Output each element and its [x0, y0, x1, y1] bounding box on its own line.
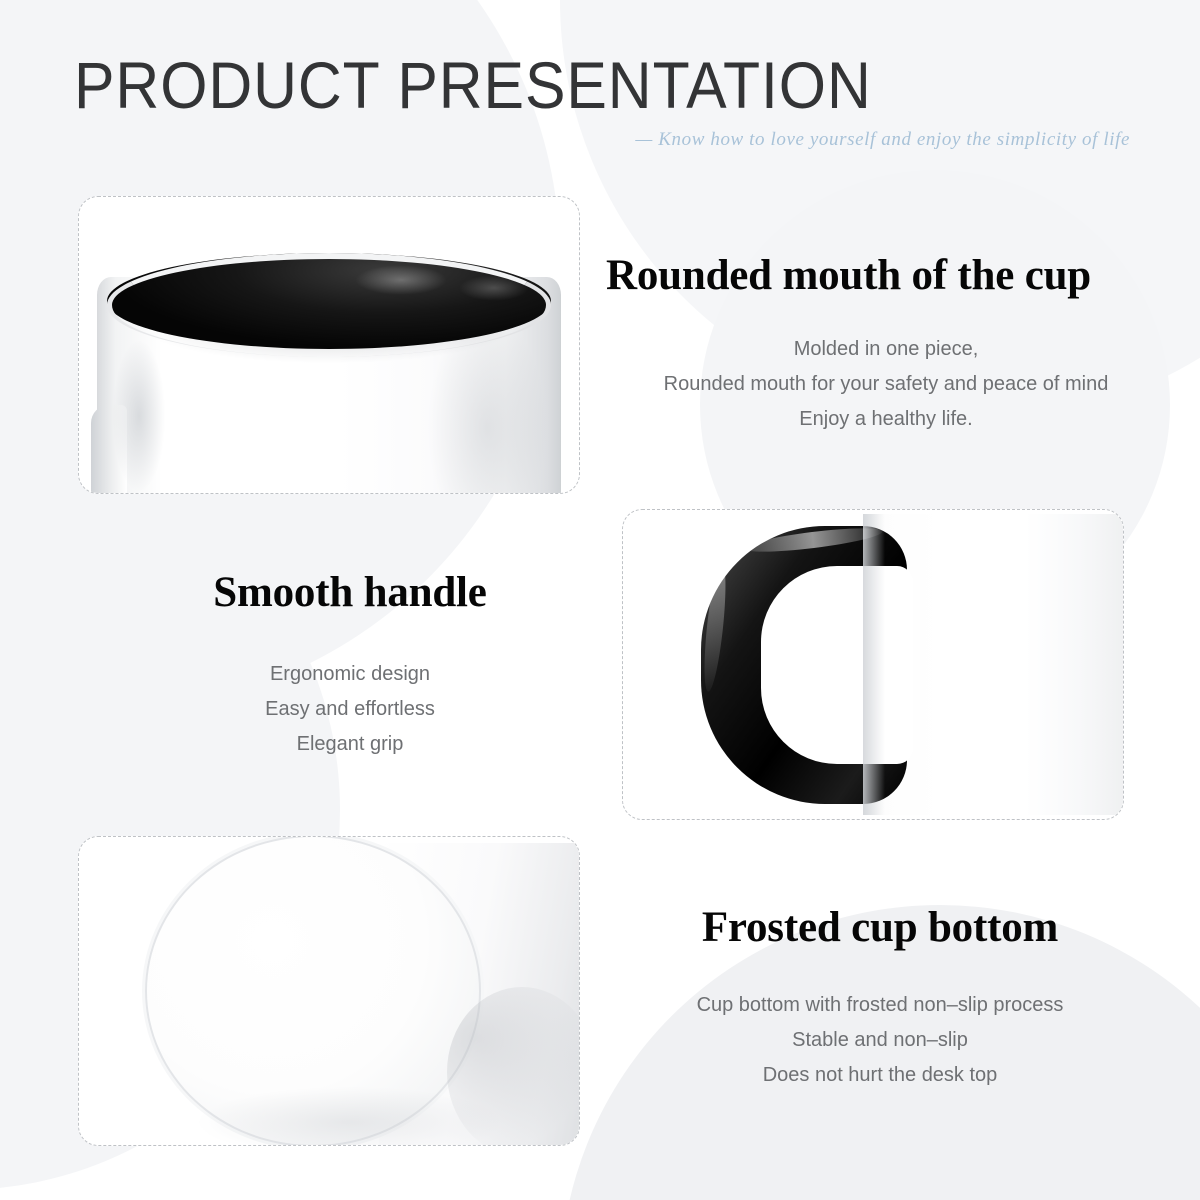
- feature-title-rounded-mouth: Rounded mouth of the cup: [606, 253, 1166, 298]
- photo-card-smooth-handle: [622, 509, 1124, 820]
- photo-card-rounded-mouth: [78, 196, 580, 494]
- feature-line: Cup bottom with frosted non–slip process: [600, 988, 1160, 1023]
- feature-smooth-handle: Smooth handle Ergonomic design Easy and …: [80, 570, 620, 762]
- feature-line: Does not hurt the desk top: [600, 1058, 1160, 1093]
- mug-handle-opening: [761, 566, 913, 764]
- product-presentation-page: PRODUCT PRESENTATION — Know how to love …: [0, 0, 1200, 1200]
- mug-rim-ring: [107, 253, 551, 357]
- page-title: PRODUCT PRESENTATION: [74, 52, 872, 118]
- photo-card-frosted-bottom: [78, 836, 580, 1146]
- mug-highlight-left: [113, 341, 165, 491]
- product-photo-frosted-bottom: [79, 837, 579, 1145]
- feature-line: Rounded mouth for your safety and peace …: [606, 367, 1166, 402]
- product-photo-rounded-mouth: [79, 197, 579, 493]
- feature-title-frosted-bottom: Frosted cup bottom: [600, 905, 1160, 950]
- feature-title-smooth-handle: Smooth handle: [80, 570, 620, 615]
- page-subtitle: — Know how to love yourself and enjoy th…: [635, 129, 1130, 151]
- feature-line: Enjoy a healthy life.: [606, 402, 1166, 437]
- mug-rim-illustration: [97, 253, 561, 493]
- feature-lines-smooth-handle: Ergonomic design Easy and effortless Ele…: [80, 657, 620, 762]
- mug-handle-illustration: [623, 510, 1123, 819]
- feature-line: Easy and effortless: [80, 692, 620, 727]
- feature-line: Stable and non–slip: [600, 1023, 1160, 1058]
- feature-lines-frosted-bottom: Cup bottom with frosted non–slip process…: [600, 988, 1160, 1093]
- product-photo-smooth-handle: [623, 510, 1123, 819]
- feature-line: Ergonomic design: [80, 657, 620, 692]
- feature-lines-rounded-mouth: Molded in one piece, Rounded mouth for y…: [606, 332, 1166, 437]
- feature-line: Molded in one piece,: [606, 332, 1166, 367]
- feature-rounded-mouth: Rounded mouth of the cup Molded in one p…: [606, 253, 1166, 437]
- feature-line: Elegant grip: [80, 727, 620, 762]
- mug-wall-edge-shade: [863, 514, 885, 815]
- mug-bottom-illustration: [79, 837, 579, 1145]
- feature-frosted-bottom: Frosted cup bottom Cup bottom with frost…: [600, 905, 1160, 1093]
